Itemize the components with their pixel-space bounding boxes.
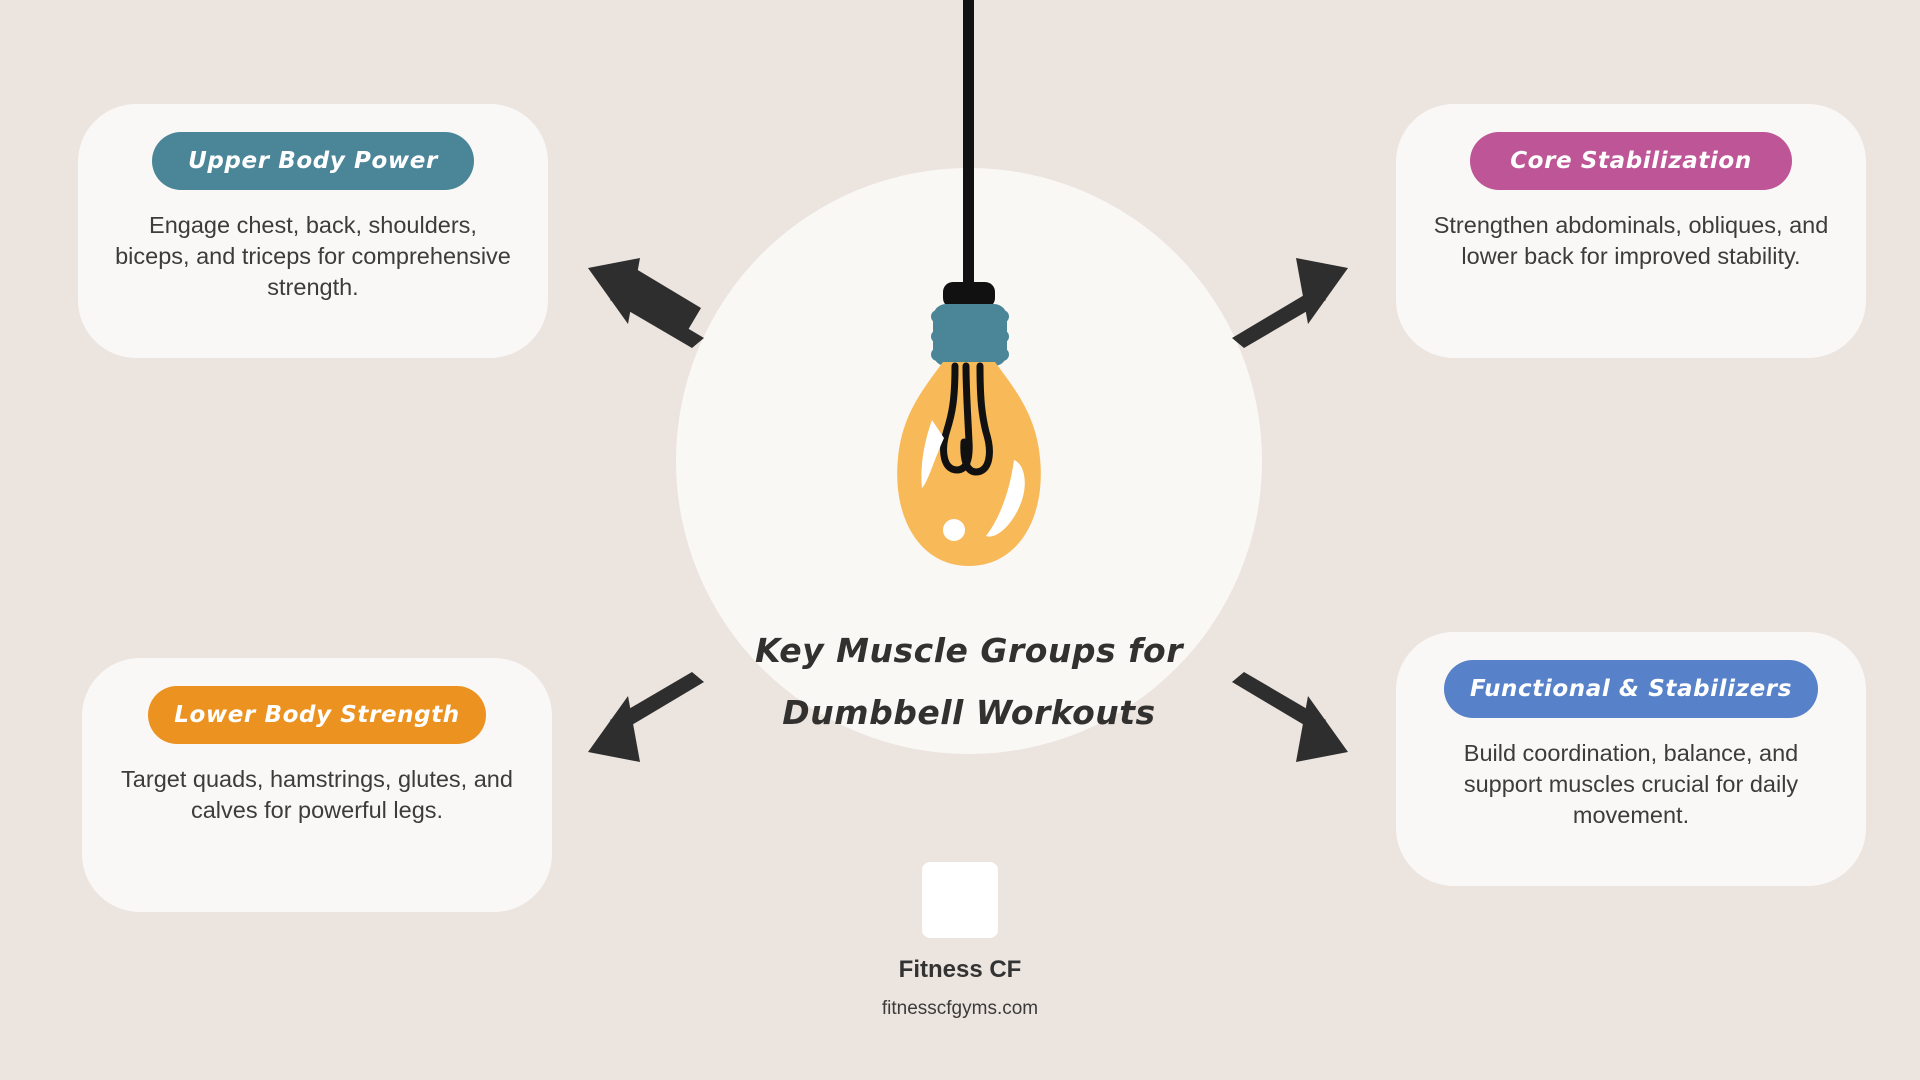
infographic-canvas: Key Muscle Groups for Dumbbell Workouts … xyxy=(0,0,1920,1080)
page-title-line1: Key Muscle Groups for xyxy=(716,620,1222,682)
arrow-to-upper-body-power xyxy=(580,252,710,348)
brand-logo-icon xyxy=(922,862,998,938)
page-title-line2: Dumbbell Workouts xyxy=(716,682,1222,744)
arrow-to-core-stabilization xyxy=(1226,252,1356,348)
bulb-cord-icon xyxy=(963,0,974,290)
card-pill-lower-body-strength[interactable]: Lower Body Strength xyxy=(148,686,486,744)
card-functional-stabilizers[interactable]: Functional & Stabilizers Build coordinat… xyxy=(1396,632,1866,886)
card-pill-core-stabilization[interactable]: Core Stabilization xyxy=(1470,132,1792,190)
card-description-upper-body-power: Engage chest, back, shoulders, biceps, a… xyxy=(113,210,513,303)
page-title: Key Muscle Groups for Dumbbell Workouts xyxy=(716,620,1222,744)
card-lower-body-strength[interactable]: Lower Body Strength Target quads, hamstr… xyxy=(82,658,552,912)
card-description-lower-body-strength: Target quads, hamstrings, glutes, and ca… xyxy=(117,764,517,826)
card-upper-body-power[interactable]: Upper Body Power Engage chest, back, sho… xyxy=(78,104,548,358)
arrow-to-lower-body-strength xyxy=(580,672,710,768)
brand-footer: Fitness CF fitnesscfgyms.com xyxy=(835,862,1085,1020)
card-core-stabilization[interactable]: Core Stabilization Strengthen abdominals… xyxy=(1396,104,1866,358)
card-description-core-stabilization: Strengthen abdominals, obliques, and low… xyxy=(1431,210,1831,272)
card-description-functional-stabilizers: Build coordination, balance, and support… xyxy=(1431,738,1831,831)
card-pill-upper-body-power[interactable]: Upper Body Power xyxy=(152,132,474,190)
bulb-base-icon xyxy=(931,304,1009,366)
card-pill-functional-stabilizers[interactable]: Functional & Stabilizers xyxy=(1444,660,1818,718)
brand-name: Fitness CF xyxy=(835,956,1085,984)
lightbulb-illustration xyxy=(862,0,1076,610)
brand-url[interactable]: fitnesscfgyms.com xyxy=(835,998,1085,1020)
arrow-to-functional-stabilizers xyxy=(1226,672,1356,768)
bulb-highlight-dot-icon xyxy=(943,519,965,541)
